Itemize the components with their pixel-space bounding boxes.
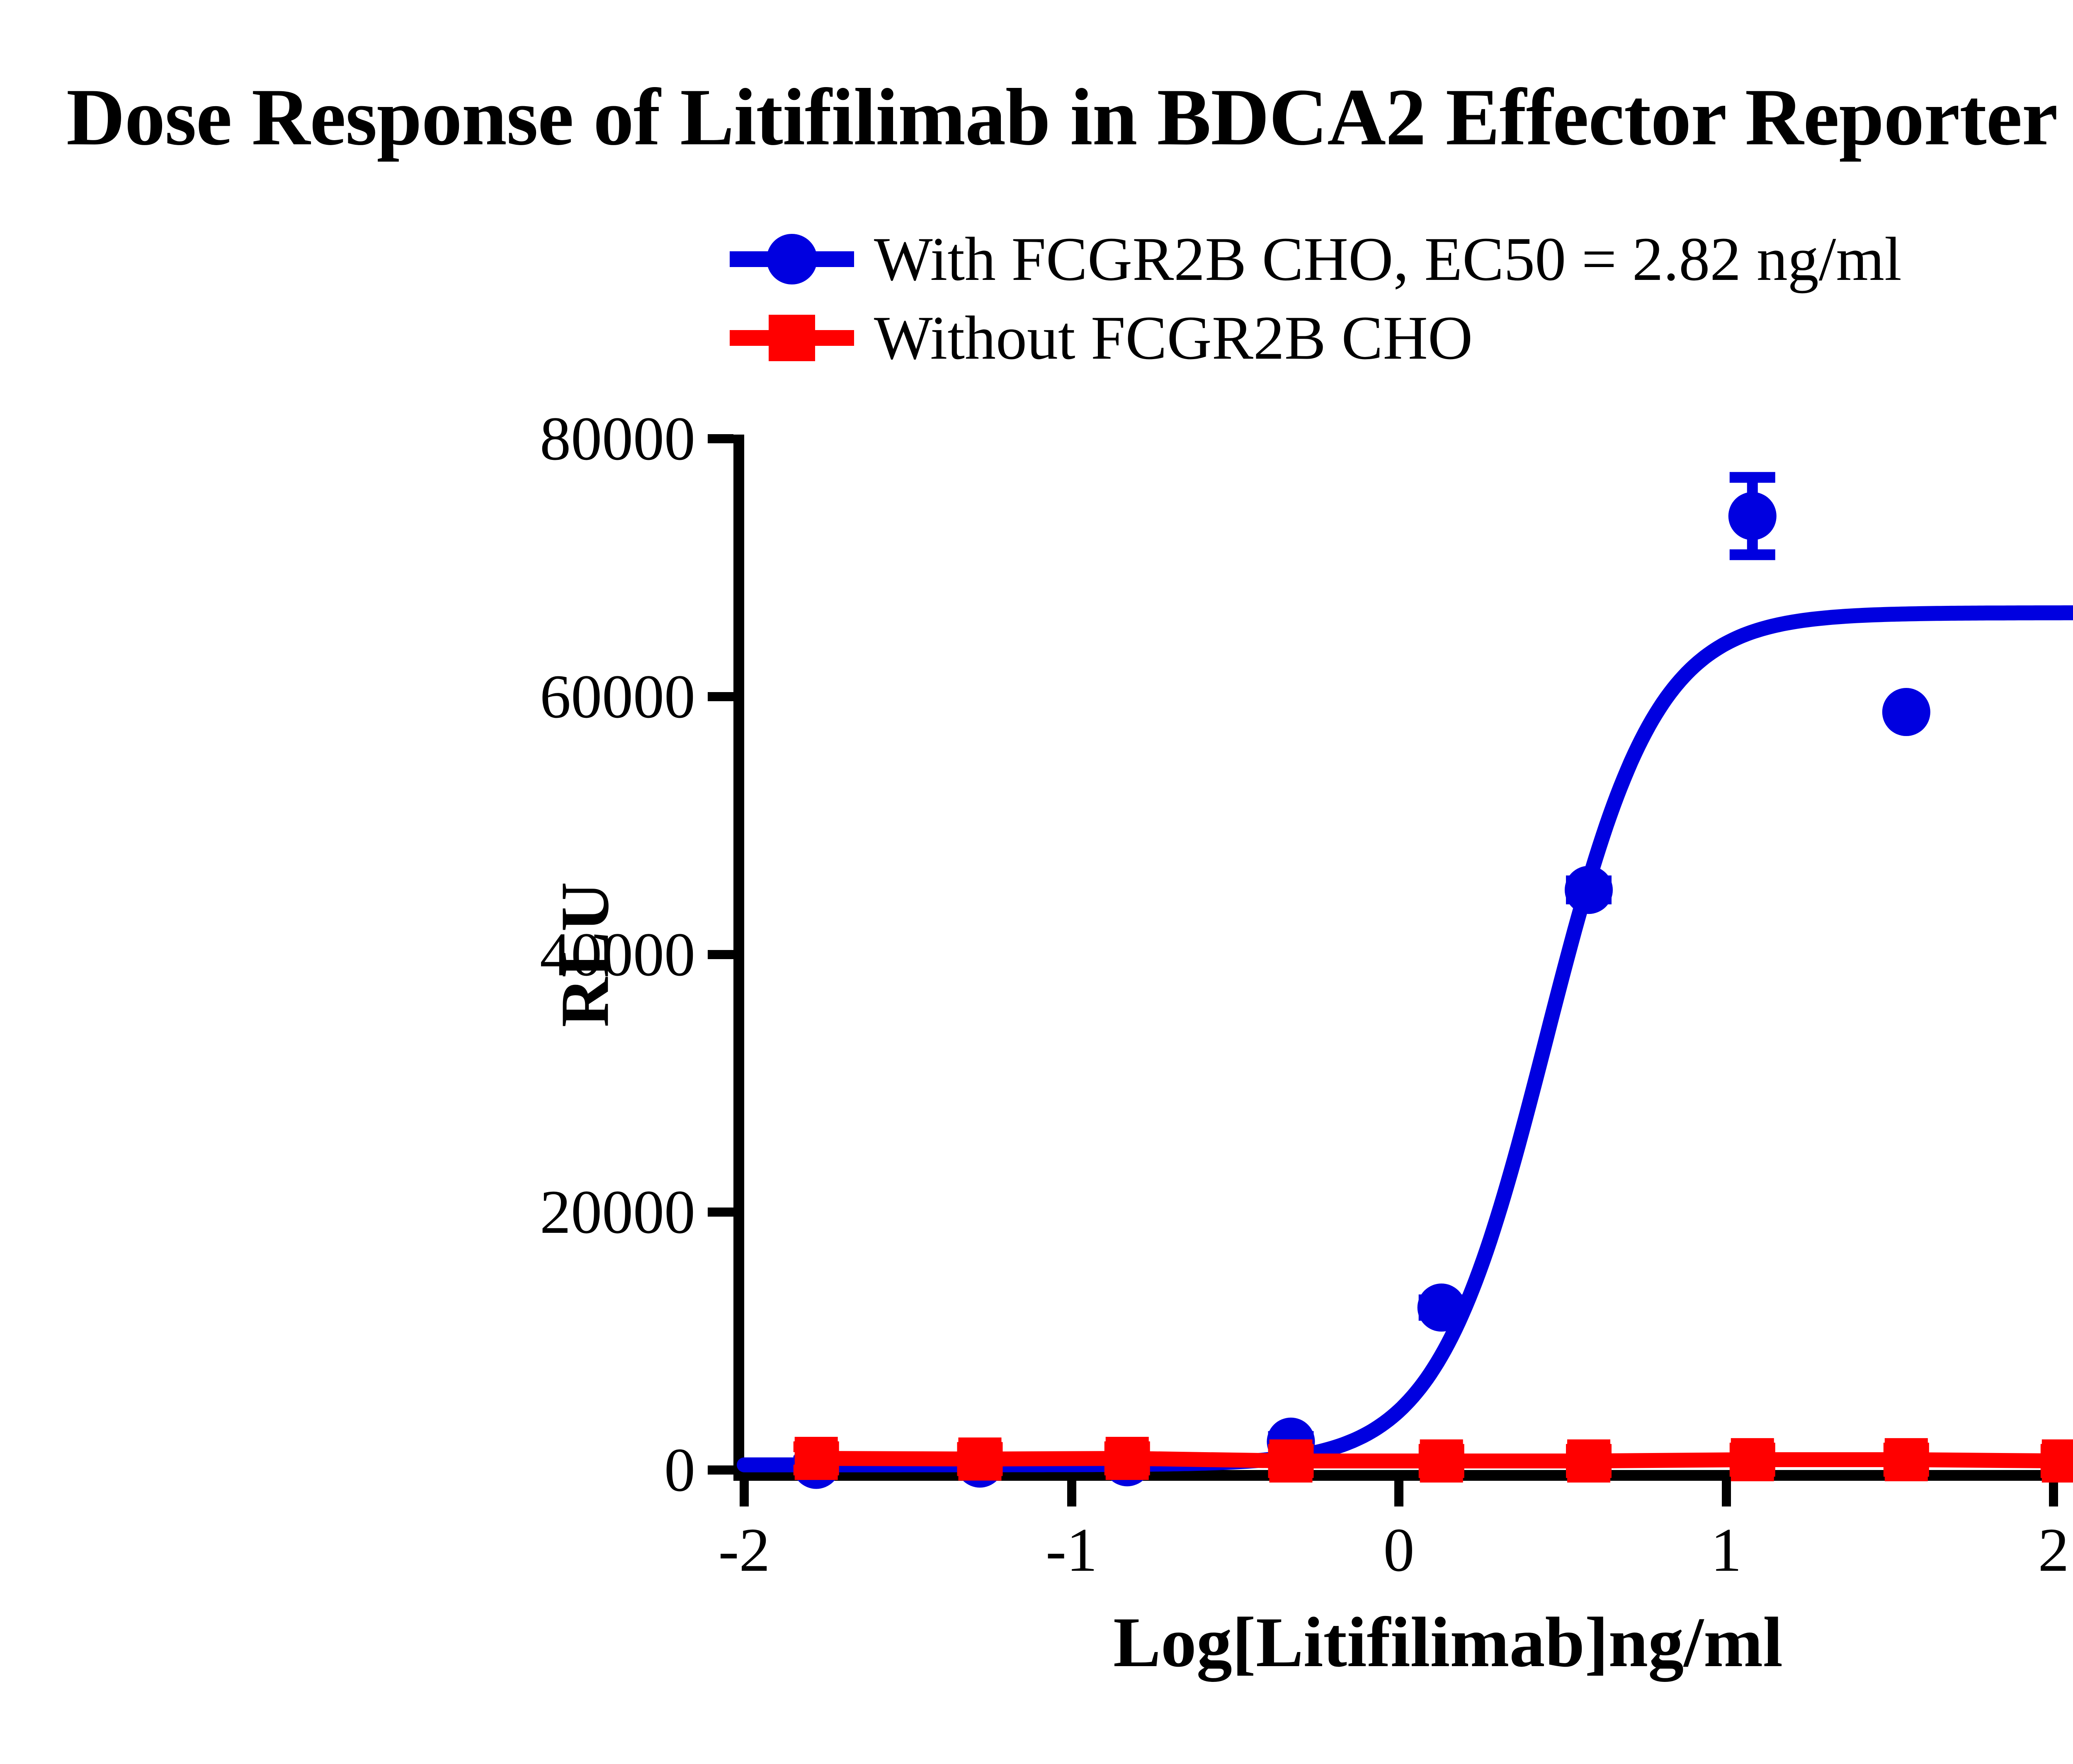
x-tick (740, 1481, 749, 1506)
fit-curve (744, 613, 2073, 1465)
data-point (1728, 492, 1777, 540)
y-tick (708, 1465, 733, 1475)
legend-marker-circle-icon (730, 234, 854, 284)
legend-marker-square-icon (730, 313, 854, 363)
x-tick-label: 1 (1711, 1519, 1742, 1581)
y-tick-label: 80000 (540, 408, 695, 470)
data-point (1270, 1439, 1313, 1482)
data-point (1418, 1283, 1466, 1332)
series-with-fcgr2b (744, 477, 2073, 1489)
x-tick (1722, 1481, 1731, 1506)
x-tick-label: -1 (1046, 1519, 1097, 1581)
data-point (1106, 1437, 1149, 1480)
y-tick (708, 1208, 733, 1217)
data-point (2042, 1439, 2073, 1482)
data-layer (744, 439, 2073, 1470)
y-tick (708, 434, 733, 443)
y-tick-label: 20000 (540, 1181, 695, 1243)
x-tick (2049, 1481, 2058, 1506)
y-axis-label: RLU (550, 882, 619, 1027)
y-tick-label: 0 (664, 1439, 695, 1501)
data-point (1731, 1438, 1774, 1481)
y-tick (708, 950, 733, 959)
data-point (1567, 1439, 1610, 1482)
legend-label-without-fcgr2b: Without FCGR2B CHO (854, 307, 1473, 369)
x-tick-label: 0 (1384, 1519, 1415, 1581)
data-point (1885, 1438, 1928, 1481)
legend-item-without-fcgr2b[interactable]: Without FCGR2B CHO (730, 299, 2073, 377)
chart-figure: Dose Response of Litifilimab in BDCA2 Ef… (0, 0, 2073, 1764)
page-title: Dose Response of Litifilimab in BDCA2 Ef… (66, 75, 2073, 160)
data-point (1565, 866, 1613, 914)
chart-legend: With FCGR2B CHO, EC50 = 2.82 ng/ml Witho… (730, 220, 2073, 377)
y-axis-spine (733, 435, 744, 1478)
x-axis-label: Log[Litifilimab]ng/ml (1113, 1607, 1783, 1678)
x-tick-label: 2 (2038, 1519, 2069, 1581)
legend-label-with-fcgr2b: With FCGR2B CHO, EC50 = 2.82 ng/ml (854, 228, 1902, 290)
plot-area: 020000400006000080000 -2-1012 RLU Log[Li… (744, 439, 2073, 1470)
y-tick (708, 692, 733, 701)
y-tick-label: 60000 (540, 666, 695, 728)
data-point (958, 1438, 1001, 1481)
x-tick (1067, 1481, 1076, 1506)
data-point (1882, 688, 1930, 736)
data-point (1420, 1439, 1463, 1482)
x-tick-label: -2 (719, 1519, 770, 1581)
legend-item-with-fcgr2b[interactable]: With FCGR2B CHO, EC50 = 2.82 ng/ml (730, 220, 2073, 299)
x-tick (1394, 1481, 1403, 1506)
data-point (795, 1437, 838, 1480)
